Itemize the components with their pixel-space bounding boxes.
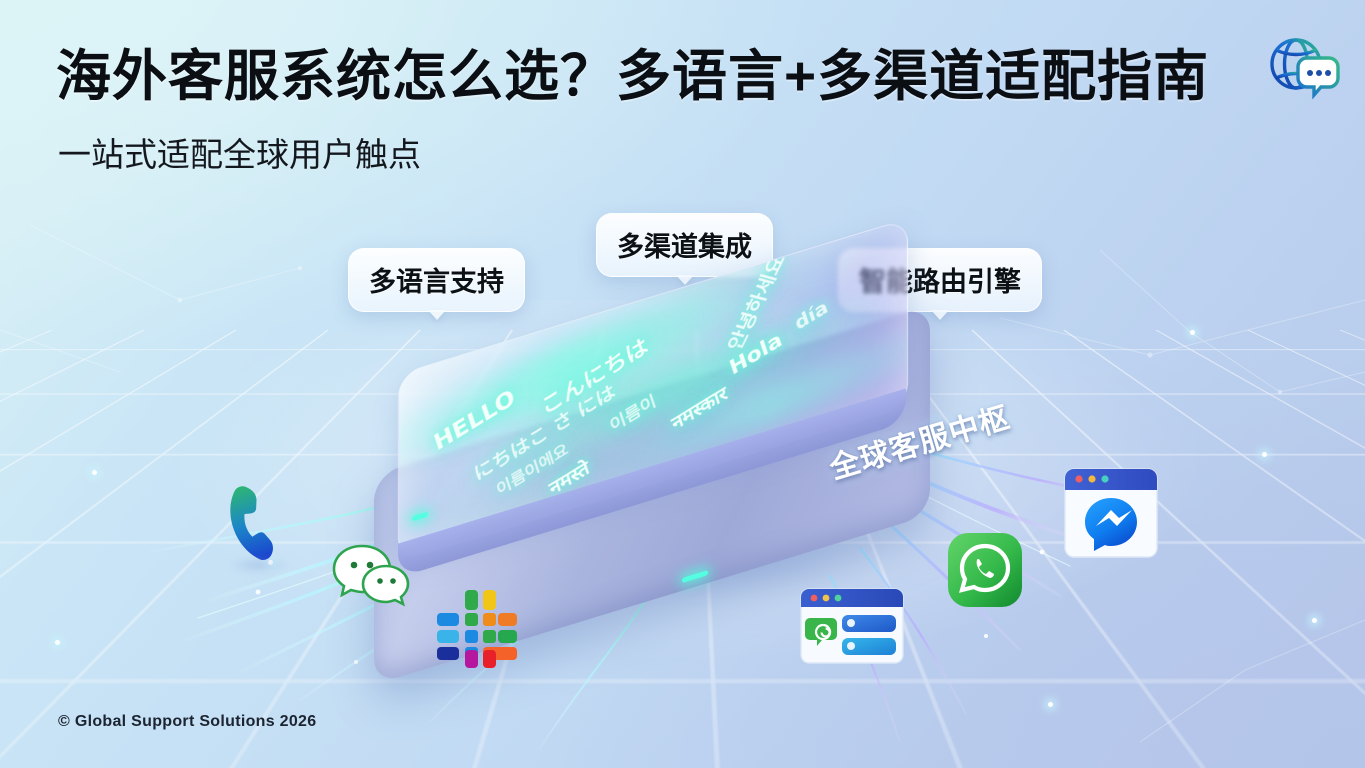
grid-node <box>1048 702 1053 707</box>
slack-icon[interactable] <box>435 588 519 670</box>
page-subtitle: 一站式适配全球用户触点 <box>58 128 421 176</box>
phone-reflection <box>216 552 302 578</box>
grid-node <box>92 470 97 475</box>
grid-node <box>1312 618 1317 623</box>
wechat-icon[interactable] <box>328 540 416 612</box>
grid-node <box>55 640 60 645</box>
whatsapp-icon[interactable] <box>945 530 1025 610</box>
grid-node <box>1190 330 1195 335</box>
globe-chat-icon <box>1263 32 1343 104</box>
page-title: 海外客服系统怎么选？多语言+多渠道适配指南 <box>56 48 1209 106</box>
slide-canvas: 海外客服系统怎么选？多语言+多渠道适配指南 一站式适配全球用户触点 多语言支持 <box>0 0 1365 768</box>
messenger-icon[interactable] <box>1062 466 1160 560</box>
grid-node <box>1262 452 1267 457</box>
callout-label: 多渠道集成 <box>617 232 752 262</box>
chat-window-icon[interactable] <box>798 586 906 666</box>
phone-icon[interactable] <box>214 482 294 562</box>
copyright-footer: © Global Support Solutions 2026 <box>58 713 316 731</box>
